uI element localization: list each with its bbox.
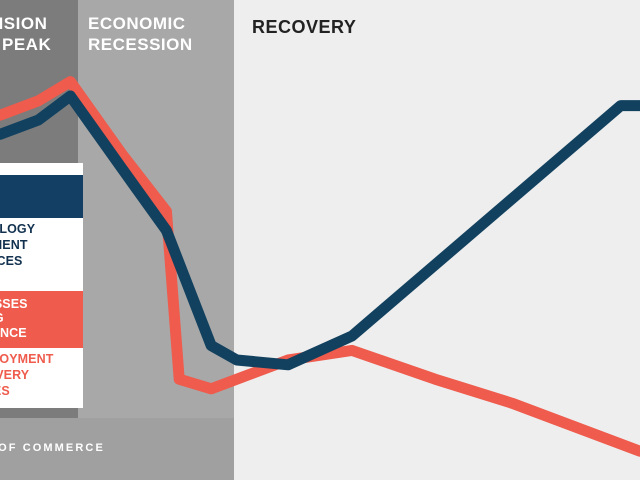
legend-sublabel-unemployment-recovery-services: UNEMPLOYMENT & RECOVERY SERVICES xyxy=(0,348,83,399)
legend-spacer xyxy=(0,269,83,285)
legend-swatch-businesses-needing-assistance: BUSINESSES NEEDING ASSISTANCE xyxy=(0,291,83,348)
legend-swatch-hiring-needs: HIRING NEEDS xyxy=(0,175,83,218)
series-line-hiring-needs xyxy=(0,96,640,365)
footer-attribution: CHAMBER OF COMMERCE xyxy=(0,442,222,454)
chart-legend: HIRING NEEDS TECHNOLOGY INVESTMENT & SER… xyxy=(0,163,83,408)
chart-plot-area xyxy=(0,0,640,480)
chart-page: EXPANSION PEAK ECONOMIC RECESSION RECOVE… xyxy=(0,0,640,480)
legend-sublabel-technology-investment: TECHNOLOGY INVESTMENT & SERVICES xyxy=(0,218,83,269)
